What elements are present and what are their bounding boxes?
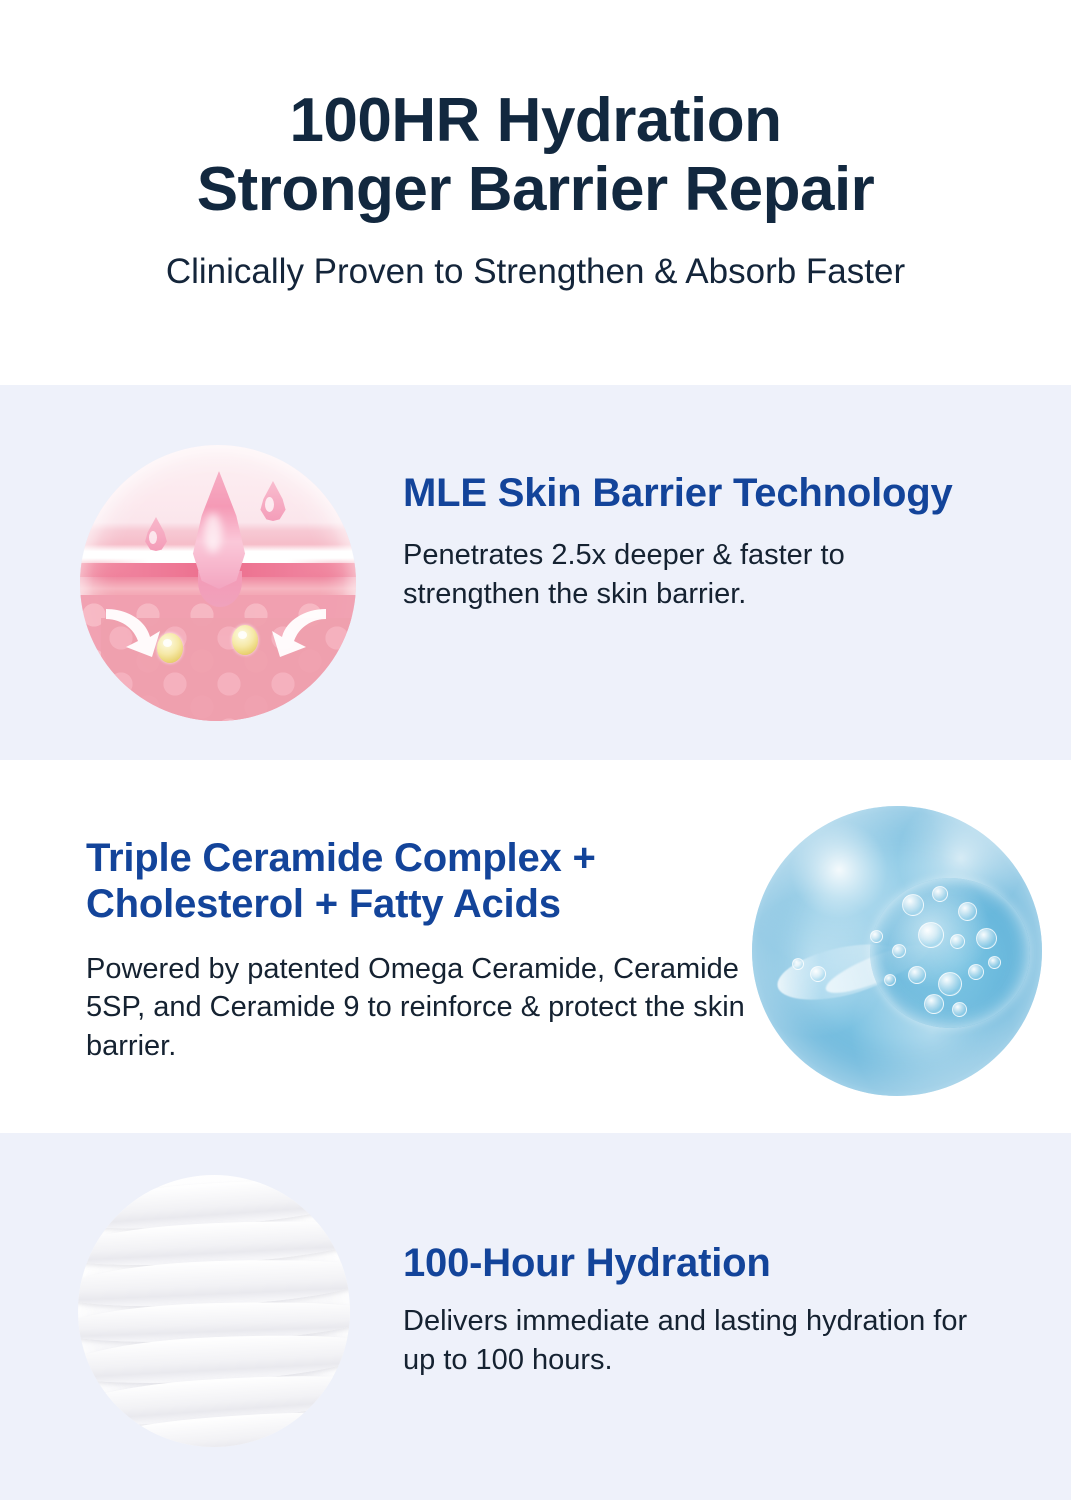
bubble-icon xyxy=(908,966,926,984)
bubble-icon xyxy=(968,964,984,980)
skin-barrier-illustration-icon xyxy=(80,445,356,721)
small-droplet-left-icon xyxy=(143,517,169,551)
page-title-line-1: 100HR Hydration xyxy=(289,86,781,155)
bubble-icon xyxy=(950,934,965,949)
bubble-icon xyxy=(952,1002,967,1017)
ceramide-capsule-right-icon xyxy=(232,625,258,655)
bubble-icon xyxy=(902,894,924,916)
feature-3-text-block: 100-Hour Hydration Delivers immediate an… xyxy=(403,1240,983,1380)
absorption-arrow-right-icon xyxy=(270,603,330,661)
bubble-icon xyxy=(884,974,896,986)
page-title: 100HR Hydration Stronger Barrier Repair xyxy=(197,86,875,225)
small-droplet-right-icon xyxy=(258,481,288,521)
feature-2-description: Powered by patented Omega Ceramide, Cera… xyxy=(86,950,806,1066)
feature-2-text-block: Triple Ceramide Complex + Cholesterol + … xyxy=(86,835,806,1065)
feature-2-title: Triple Ceramide Complex + Cholesterol + … xyxy=(86,835,806,928)
bubble-icon xyxy=(976,928,997,949)
page-subtitle: Clinically Proven to Strengthen & Absorb… xyxy=(166,251,905,293)
feature-1-description: Penetrates 2.5x deeper & faster to stren… xyxy=(403,536,983,613)
feature-3-title: 100-Hour Hydration xyxy=(403,1240,983,1286)
header-section: 100HR Hydration Stronger Barrier Repair … xyxy=(0,0,1071,385)
product-feature-infographic: 100HR Hydration Stronger Barrier Repair … xyxy=(0,0,1071,1500)
feature-1-text-block: MLE Skin Barrier Technology Penetrates 2… xyxy=(403,470,983,614)
bubble-icon xyxy=(892,944,906,958)
cream-texture-swatch-icon xyxy=(78,1175,350,1447)
bubble-icon xyxy=(810,966,826,982)
feature-3-description: Delivers immediate and lasting hydration… xyxy=(403,1302,983,1379)
feature-1-title: MLE Skin Barrier Technology xyxy=(403,470,983,516)
bubble-icon xyxy=(958,902,977,921)
bubble-icon xyxy=(870,930,883,943)
absorption-arrow-left-icon xyxy=(102,603,162,661)
bubble-icon xyxy=(932,886,948,902)
page-title-line-2: Stronger Barrier Repair xyxy=(197,155,875,224)
bubble-icon xyxy=(988,956,1001,969)
bubble-icon xyxy=(918,922,944,948)
bubble-icon xyxy=(924,994,944,1014)
bubble-icon xyxy=(938,972,962,996)
